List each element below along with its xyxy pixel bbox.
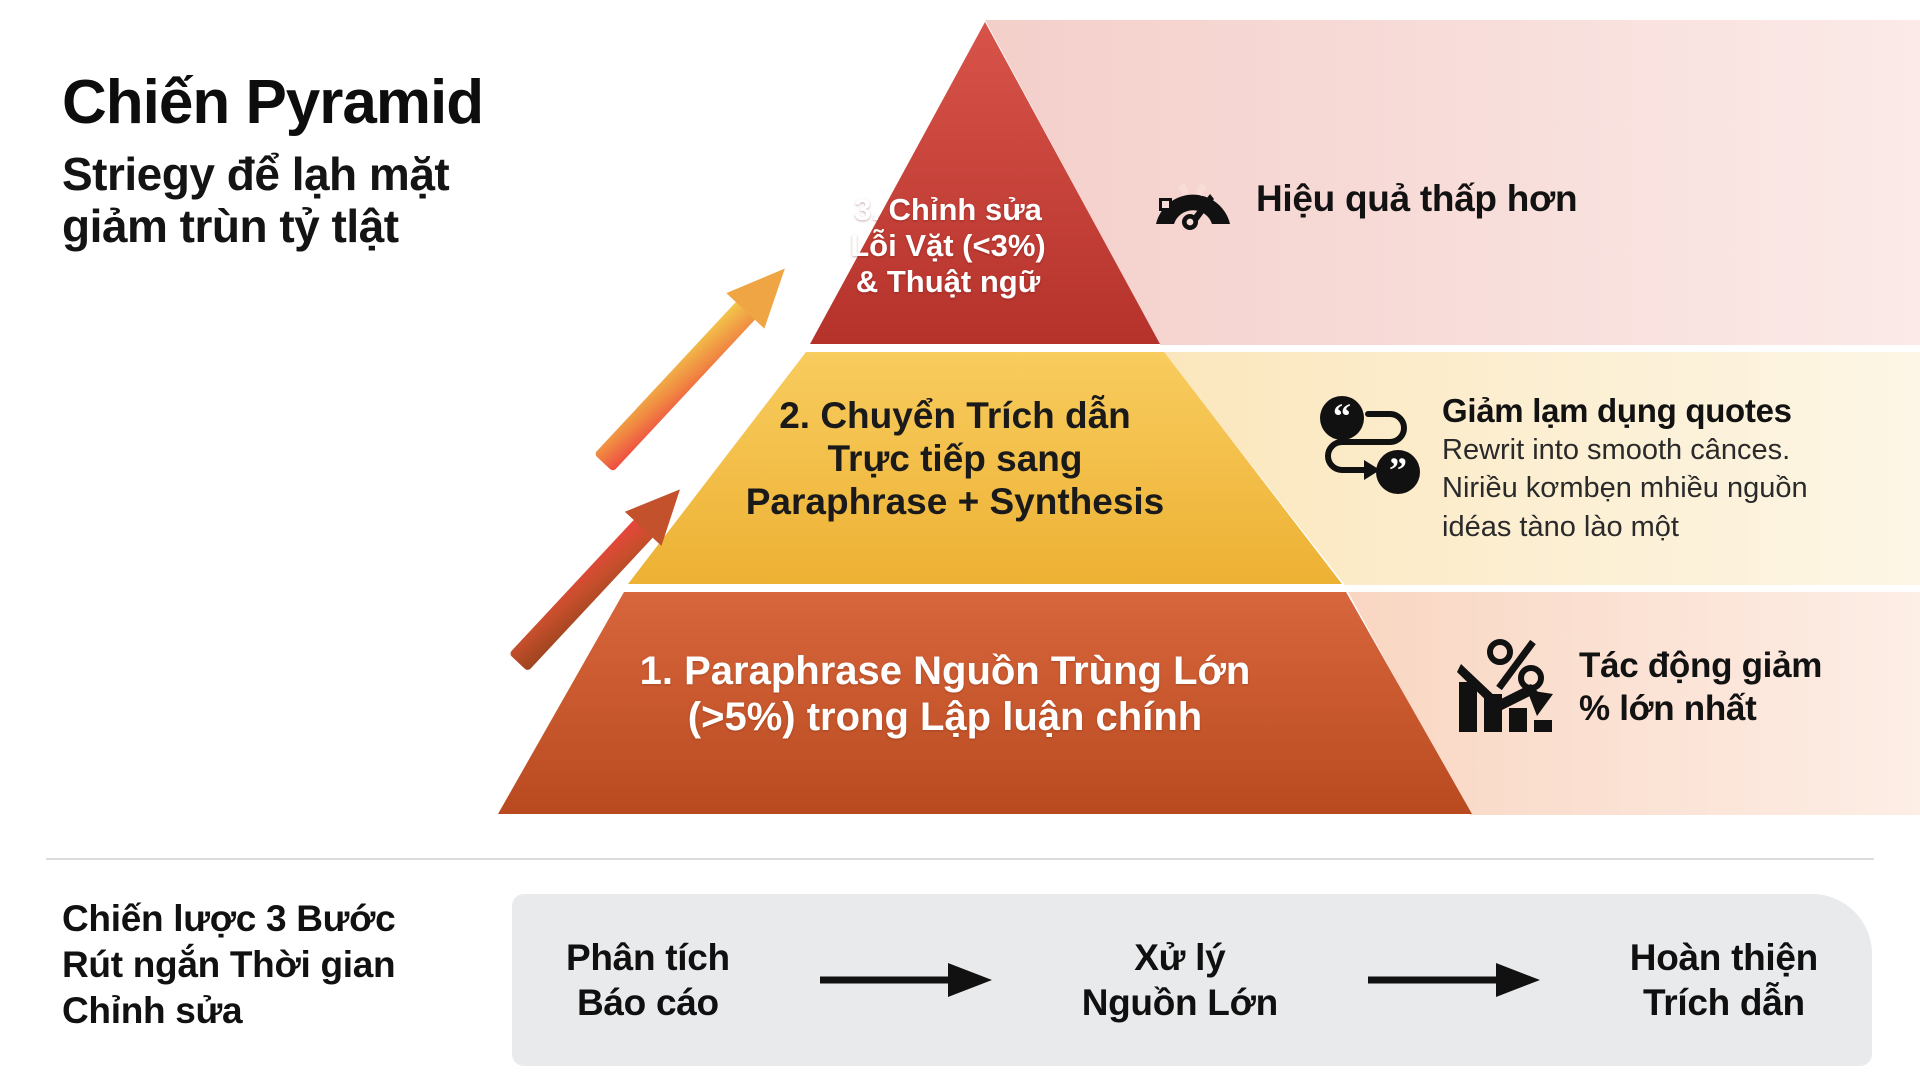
flow-step-2-line-1: Xử lý xyxy=(1082,935,1278,980)
svg-text:“: “ xyxy=(1333,396,1351,436)
annotation-bot-heading-1: Tác động giảm xyxy=(1579,645,1822,688)
annotation-bot-heading-2: % lớn nhất xyxy=(1579,688,1822,731)
flow-step-2[interactable]: Xử lý Nguồn Lớn xyxy=(1082,935,1278,1025)
flow-step-2-line-2: Nguồn Lớn xyxy=(1082,980,1278,1025)
flow-step-3-line-1: Hoàn thiện xyxy=(1630,935,1818,980)
declining-bar-percent-icon xyxy=(1455,638,1559,738)
annotation-top-heading: Hiệu quả thấp hơn xyxy=(1256,178,1577,220)
flow-step-1-line-2: Báo cáo xyxy=(566,980,730,1025)
svg-text:”: ” xyxy=(1389,450,1407,490)
flow-step-3[interactable]: Hoàn thiện Trích dẫn xyxy=(1630,935,1818,1025)
annotation-mid-text: Giảm lạm dụng quotes Rewrit into smooth … xyxy=(1442,392,1808,545)
gauge-icon xyxy=(1150,168,1236,230)
annotation-reduce-quotes: “ ” Giảm lạm dụng quotes Rewrit into smo… xyxy=(1318,392,1808,545)
section-divider xyxy=(46,858,1874,860)
annotation-mid-heading: Giảm lạm dụng quotes xyxy=(1442,392,1808,430)
flow-step-1[interactable]: Phân tích Báo cáo xyxy=(566,935,730,1025)
right-arrow-icon xyxy=(818,959,994,1001)
annotation-mid-sub-2: Niriều kơmbẹn mhiều nguồn xyxy=(1442,470,1808,507)
infographic-canvas: Chiến Pyramid Striegy để lạh mặt giảm tr… xyxy=(0,0,1920,1080)
flow-step-1-line-1: Phân tích xyxy=(566,935,730,980)
bottom-label-line-2: Rút ngắn Thời gian xyxy=(62,942,482,988)
annotation-top-text: Hiệu quả thấp hơn xyxy=(1256,178,1577,220)
bottom-label-line-3: Chỉnh sửa xyxy=(62,988,482,1034)
bottom-process-section: Chiến lược 3 Bước Rút ngắn Thời gian Chỉ… xyxy=(0,880,1920,1080)
annotation-mid-sub-1: Rewrit into smooth cânces. xyxy=(1442,432,1808,469)
annotation-largest-reduction: Tác động giảm % lớn nhất xyxy=(1455,638,1822,738)
process-flow-panel: Phân tích Báo cáo Xử lý Nguồn Lớn Hoàn t… xyxy=(512,894,1872,1066)
flow-step-3-line-2: Trích dẫn xyxy=(1630,980,1818,1025)
annotation-mid-sub-3: idéas tàno lào một xyxy=(1442,509,1808,546)
right-arrow-icon xyxy=(1366,959,1542,1001)
pyramid-tier-1[interactable] xyxy=(498,592,1472,814)
quote-swap-icon: “ ” xyxy=(1318,392,1422,496)
annotation-bot-text: Tác động giảm % lớn nhất xyxy=(1579,645,1822,730)
annotation-lower-effectiveness: Hiệu quả thấp hơn xyxy=(1150,168,1577,230)
bottom-label-line-1: Chiến lược 3 Bước xyxy=(62,896,482,942)
bottom-label-block: Chiến lược 3 Bước Rút ngắn Thời gian Chỉ… xyxy=(62,896,482,1034)
pyramid-diagram: 3. Chỉnh sửa Lỗi Vặt (<3%) & Thuật ngữ 2… xyxy=(0,0,1920,840)
